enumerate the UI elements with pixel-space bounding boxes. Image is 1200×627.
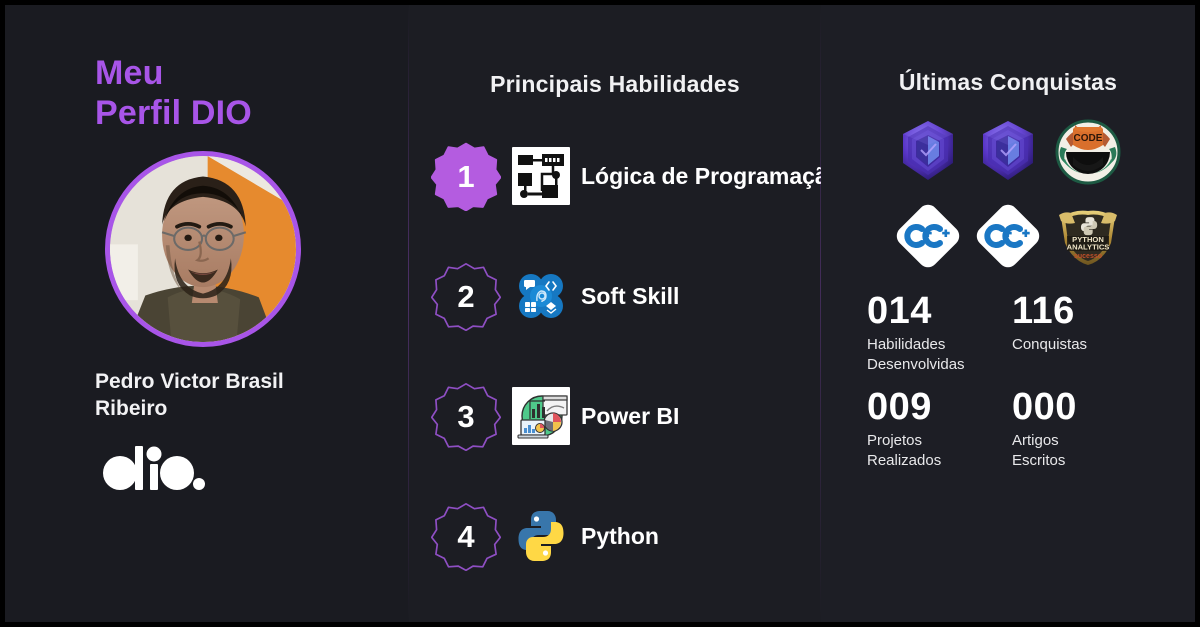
stat-value: 009 xyxy=(867,388,1012,428)
rank-badge-3: 3 xyxy=(431,381,501,451)
skill-item-soft-skill[interactable]: 2 xyxy=(409,236,821,356)
skill-item-python[interactable]: 4 Python xyxy=(409,476,821,596)
stat-item: 009 Projetos Realizados xyxy=(867,388,1012,470)
page-title: Meu Perfil DIO xyxy=(95,53,252,133)
stat-item: 014 Habilidades Desenvolvidas xyxy=(867,292,1012,374)
power-bi-icon xyxy=(511,386,571,446)
cpp-logo-badge-icon xyxy=(895,203,961,269)
rank-badge-1: 1 xyxy=(431,141,501,211)
stat-label: Habilidades Desenvolvidas xyxy=(867,335,1012,375)
skill-item-logica[interactable]: 1 xyxy=(409,116,821,236)
shield-badge-purple-icon xyxy=(893,117,963,187)
stat-label: Projetos Realizados xyxy=(867,431,1012,471)
stat-value: 000 xyxy=(1012,388,1157,428)
stat-label: Artigos Escritos xyxy=(1012,431,1157,471)
stat-value: 116 xyxy=(1012,292,1157,332)
stat-item: 000 Artigos Escritos xyxy=(1012,388,1157,470)
achievement-badge[interactable] xyxy=(968,196,1048,276)
avatar-photo xyxy=(110,156,296,342)
flowchart-icon xyxy=(511,146,571,206)
rank-number: 2 xyxy=(457,281,474,312)
python-icon xyxy=(511,506,571,566)
stat-value: 014 xyxy=(867,292,1012,332)
stat-label: Conquistas xyxy=(1012,335,1157,355)
achievement-badge[interactable] xyxy=(968,112,1048,192)
profile-name: Pedro Victor Brasil Ribeiro xyxy=(95,369,335,423)
soft-skill-icon xyxy=(511,266,571,326)
achievements-panel: Últimas Conquistas xyxy=(821,5,1195,622)
rank-number: 1 xyxy=(457,161,474,192)
avatar xyxy=(105,151,301,347)
skill-label: Python xyxy=(581,523,659,550)
rank-badge-2: 2 xyxy=(431,261,501,331)
skills-heading: Principais Habilidades xyxy=(409,71,821,98)
svg-text:sucesso: sucesso xyxy=(1074,253,1102,260)
rank-number: 3 xyxy=(457,401,474,432)
dio-logo xyxy=(97,445,205,496)
skill-label: Power BI xyxy=(581,403,679,430)
achievements-grid: CODE xyxy=(821,112,1195,276)
python-analytics-badge-icon: PYTHON ANALYTICS sucesso xyxy=(1055,203,1121,269)
achievements-heading: Últimas Conquistas xyxy=(821,69,1195,96)
achievement-badge[interactable] xyxy=(888,112,968,192)
stats-grid: 014 Habilidades Desenvolvidas 116 Conqui… xyxy=(821,292,1195,471)
dio-logo-icon xyxy=(97,445,205,491)
profile-panel: Meu Perfil DIO xyxy=(5,5,409,622)
cpp-logo-badge-icon xyxy=(975,203,1041,269)
skills-list: 1 xyxy=(409,116,821,596)
avatar-wrapper xyxy=(93,149,313,349)
achievement-badge[interactable]: PYTHON ANALYTICS sucesso xyxy=(1048,196,1128,276)
achievement-badge[interactable] xyxy=(888,196,968,276)
shield-badge-purple-icon xyxy=(973,117,1043,187)
achievement-badge[interactable]: CODE xyxy=(1048,112,1128,192)
skill-label: Soft Skill xyxy=(581,283,679,310)
code-trophy-badge-icon: CODE xyxy=(1053,117,1123,187)
skill-item-power-bi[interactable]: 3 xyxy=(409,356,821,476)
svg-text:CODE: CODE xyxy=(1074,133,1103,144)
skills-panel: Principais Habilidades 1 xyxy=(409,5,821,622)
stat-item: 116 Conquistas xyxy=(1012,292,1157,374)
svg-text:ANALYTICS: ANALYTICS xyxy=(1067,243,1110,252)
skill-label: Lógica de Programação xyxy=(581,163,842,190)
rank-number: 4 xyxy=(457,521,474,552)
rank-badge-4: 4 xyxy=(431,501,501,571)
dio-profile-card: Meu Perfil DIO xyxy=(0,0,1200,627)
